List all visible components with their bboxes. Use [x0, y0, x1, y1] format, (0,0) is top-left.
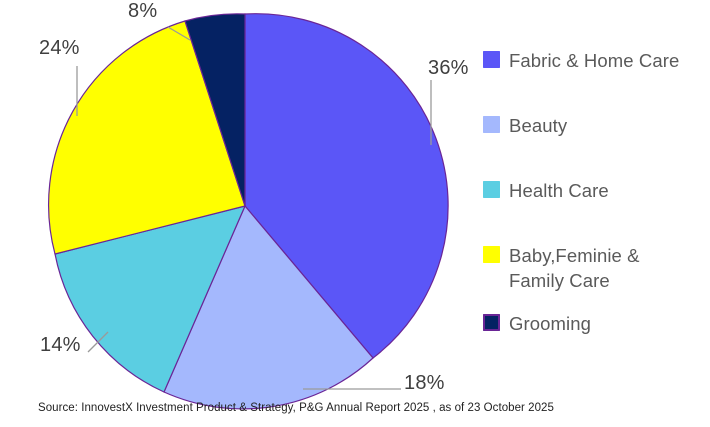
source-note: Source: InnovestX Investment Product & S… — [38, 402, 554, 414]
legend-label-baby-feminie-family-care: Baby,Feminie & Family Care — [509, 243, 640, 293]
legend-swatch-icon-grooming — [483, 314, 500, 331]
legend-item-beauty[interactable]: Beauty — [483, 113, 708, 138]
pie-chart-figure: 36% 18% 14% 24% 8% Fabric & Home Care Be… — [0, 0, 710, 427]
legend-swatch-icon-fabric-home-care — [483, 51, 500, 68]
data-label-baby-feminie-family-care: 24% — [39, 37, 80, 60]
legend-label-beauty: Beauty — [509, 113, 567, 138]
legend-item-grooming[interactable]: Grooming — [483, 311, 708, 336]
legend-swatch-icon-beauty — [483, 116, 500, 133]
data-label-beauty: 18% — [404, 372, 445, 395]
legend-label-grooming: Grooming — [509, 311, 591, 336]
data-label-grooming: 8% — [128, 0, 157, 23]
data-label-health-care: 14% — [40, 334, 81, 357]
legend-item-health-care[interactable]: Health Care — [483, 178, 708, 203]
legend-swatch-icon-baby-feminie-family-care — [483, 246, 500, 263]
legend-item-baby-feminie-family-care[interactable]: Baby,Feminie & Family Care — [483, 243, 708, 293]
legend-swatch-icon-health-care — [483, 181, 500, 198]
chart-legend: Fabric & Home Care Beauty Health Care Ba… — [483, 48, 708, 376]
legend-label-fabric-home-care: Fabric & Home Care — [509, 48, 679, 73]
data-label-fabric-home-care: 36% — [428, 57, 469, 80]
legend-label-health-care: Health Care — [509, 178, 609, 203]
legend-item-fabric-home-care[interactable]: Fabric & Home Care — [483, 48, 708, 73]
